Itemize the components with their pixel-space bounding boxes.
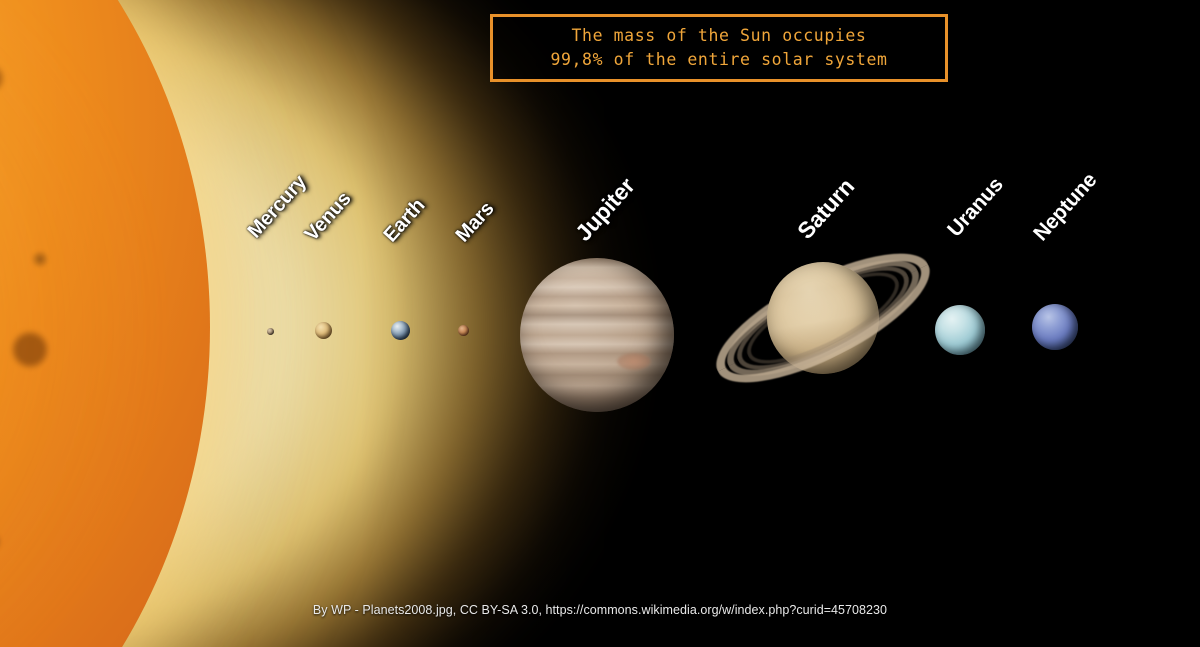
sun-limb-brightening [0,0,210,647]
planet-mars [458,325,469,336]
planet-label-uranus: Uranus [943,173,1008,242]
caption-line-2: 99,8% of the entire solar system [550,49,887,71]
planet-label-mars: Mars [451,198,499,247]
planet-label-venus: Venus [300,188,356,246]
planet-venus [315,322,332,339]
planet-saturn [767,262,879,374]
caption-line-1: The mass of the Sun occupies [572,25,867,47]
planet-label-saturn: Saturn [792,173,860,244]
sun-disc [0,0,210,647]
planet-neptune [1032,304,1078,350]
planet-jupiter [520,258,674,412]
caption-box: The mass of the Sun occupies 99,8% of th… [490,14,948,82]
planet-label-neptune: Neptune [1029,169,1102,246]
planet-mercury [267,328,274,335]
solar-system-scene: The mass of the Sun occupies 99,8% of th… [0,0,1200,647]
planet-label-jupiter: Jupiter [570,173,640,247]
planet-uranus [935,305,985,355]
planet-earth [391,321,410,340]
great-red-spot [617,353,651,370]
planet-label-earth: Earth [379,195,430,248]
attribution-text: By WP - Planets2008.jpg, CC BY-SA 3.0, h… [0,603,1200,617]
